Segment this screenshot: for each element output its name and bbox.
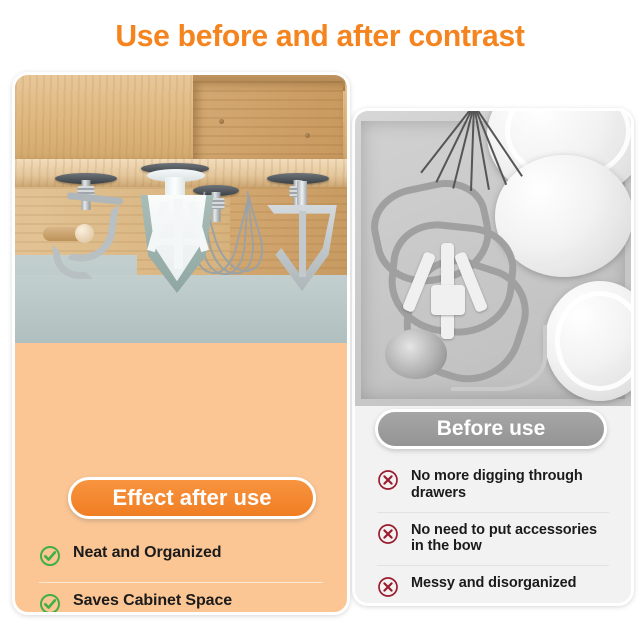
photo-after-use	[15, 75, 347, 343]
metal-disc-attachment	[385, 329, 447, 379]
page-title: Use before and after contrast	[10, 18, 631, 54]
dough-hook-curl	[53, 245, 93, 279]
badge-before-use: Before use	[375, 409, 607, 449]
drawback-list: No more digging through drawers No need …	[355, 459, 631, 606]
cabinet-interior-back	[193, 81, 343, 167]
badge-effect-after-use: Effect after use	[68, 477, 316, 519]
list-item: Messy and disorganized	[377, 565, 609, 606]
dough-hook-attachment	[51, 173, 117, 293]
card-effect-after-use: Effect after use Neat and Organized Save…	[12, 72, 350, 615]
list-item: Neat and Organized	[39, 535, 323, 582]
flex-edge-beater-attachment	[125, 167, 229, 312]
screw-icon	[305, 133, 310, 138]
list-item-label: Messy and disorganized	[411, 575, 576, 592]
wire-whisk-attachment	[431, 111, 515, 201]
screw-icon	[219, 119, 224, 124]
list-item: No need to put accessories in the bow	[377, 512, 609, 566]
list-item-label: No more digging through drawers	[411, 468, 609, 502]
benefit-list: Neat and Organized Saves Cabinet Space E…	[15, 535, 347, 615]
badge-label: Before use	[437, 417, 546, 441]
list-item: No more digging through drawers	[377, 459, 609, 512]
list-item-label: No need to put accessories in the bow	[411, 522, 609, 556]
x-circle-icon	[377, 523, 399, 550]
x-circle-icon	[377, 469, 399, 496]
coiled-cable	[451, 325, 547, 391]
flat-paddle-attachment	[259, 173, 345, 303]
paddle-stem	[297, 181, 307, 209]
beater-body	[139, 195, 215, 293]
badge-label: Effect after use	[113, 485, 272, 511]
card-before-use: Before use No more digging through drawe…	[352, 108, 634, 606]
check-circle-icon	[39, 545, 61, 572]
x-circle-icon	[377, 576, 399, 603]
list-item-label: Saves Cabinet Space	[73, 592, 232, 611]
paddle-center-vane	[299, 211, 306, 277]
list-item: Saves Cabinet Space	[39, 582, 323, 615]
photo-before-use	[355, 111, 631, 406]
check-circle-icon	[39, 593, 61, 615]
list-item-label: Neat and Organized	[73, 544, 221, 563]
